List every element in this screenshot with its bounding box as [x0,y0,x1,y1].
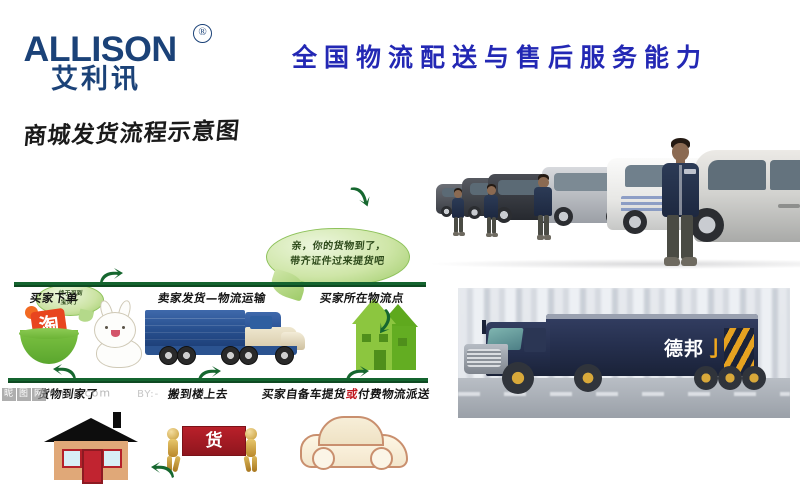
logo-chinese-name: 艾利讯 [51,66,141,93]
flow-label-part-pre: 买家自备车提货 [261,387,347,401]
house-roof [44,418,138,442]
car-cabin [318,416,384,446]
flow-arrow-icon [150,460,176,480]
person-trousers [667,215,679,259]
watermark-tile: 昵 [2,388,16,401]
truck-wheel [239,346,258,365]
person-shoe [537,235,544,240]
carrier-body [168,439,178,457]
stock-image-watermark: 昵图网 nipic.comBY:- [2,386,232,406]
person-jacket [484,195,498,218]
cargo-banner: 货 [182,426,246,456]
carrier-person-right [240,428,262,472]
vehicle-door-handle [778,204,800,208]
person-jacket [534,187,552,216]
car-icon [300,416,404,472]
bunny-eye-right [122,326,125,329]
logistics-point-speech-bubble: 亲，你的货物到了， 带齐证件过来提货吧 [266,228,410,286]
person-trousers [681,215,693,259]
speech-bubble-line-2: 带齐证件过来提货吧 [273,254,401,269]
vehicle-wheel [623,210,647,234]
person-head [454,190,462,198]
truck-wheel [742,366,766,390]
jacket-chest-logo [684,169,696,174]
deppon-swoosh-icon: 亅 [705,335,727,363]
diagram-title: 商城发货流程示意图 [22,111,242,151]
vehicle-window [770,160,800,190]
shopping-basket-icon: 淘 [20,312,78,364]
watermark-by: BY:- [137,389,159,400]
deppon-brand-logo: 德邦亅 [664,334,746,362]
truck-wheel [275,346,294,365]
carrier-leg [252,456,257,472]
flow-arrow-icon [344,364,370,384]
flow-arrow-icon [98,266,124,286]
carrier-leg [243,456,251,473]
flow-label-self-pickup-or-delivery: 买家自备车提货或付费物流派送 [261,386,431,402]
truck-trailer [145,310,245,348]
slide-root: ALLISON ® 艾利讯 全国物流配送与售后服务能力 商城发货流程示意图 亲，… [0,0,800,450]
person-trousers [544,215,549,236]
person-trousers [454,217,458,233]
truck-wheel [177,346,196,365]
speech-bubble-line-1: 亲，你的货物到了， [275,239,403,254]
logo-wordmark: ALLISON [23,32,176,67]
semi-truck-icon [145,310,305,372]
truck-window [250,316,272,329]
house-door [82,449,103,484]
person-shoe [459,232,465,236]
truck-wheel [159,346,178,365]
person-trousers [492,217,496,234]
truck-mirror [482,320,486,334]
staff-person [450,188,466,236]
person-trousers [538,215,543,236]
deppon-brand-text: 德邦 [664,338,704,360]
watermark-tile: 网 [32,388,46,401]
bunny-eye-left [105,326,108,329]
flow-rail-row-1 [14,282,426,285]
deppon-logistics-truck-photo: 德邦亅 [458,288,790,418]
house-window-left [62,449,82,468]
company-logo: ALLISON ® 艾利讯 [25,16,215,88]
page-title: 全国物流配送与售后服务能力 [240,38,760,74]
vehicle-window [708,160,766,190]
flow-label-seller-ships: 卖家发货—物流运输 [157,290,267,306]
person-trousers [459,217,463,233]
staff-person [482,184,500,238]
fleet-vehicle-near-sedan [694,150,800,242]
flow-arrow-icon [347,181,374,212]
staff-person [532,174,554,240]
truck-wheel [221,346,240,365]
registered-trademark-icon: ® [193,24,212,43]
watermark-tile: 图 [17,388,31,401]
flow-label-part-post: 付费物流派送 [357,387,431,401]
carrier-body [246,439,256,457]
flow-arrow-icon [196,364,222,384]
house-icon [48,418,134,480]
speech-bubble-tail [268,268,308,301]
basket-rim [19,328,79,339]
vehicle-wheel [554,207,573,226]
car-wheel [312,447,335,470]
person-shoe [544,235,551,240]
person-shoe [492,233,498,237]
bunny-mascot-icon [86,308,148,370]
service-vehicle-fleet-photo [432,112,800,277]
fleet-ground-shadow [432,259,800,269]
flow-label-buyer-orders: 买家下单 [29,290,79,306]
person-head [487,186,496,195]
vehicle-wheel [468,206,481,219]
truck-wheel [574,364,602,392]
green-house-window [398,338,407,346]
person-shoe [664,257,680,266]
person-shoe [681,257,697,266]
truck-cab-door [524,328,546,352]
green-house-door [374,350,386,370]
staff-person-foreground [660,138,700,272]
watermark-tiles: 昵图网 [2,386,47,401]
truck-wheel [718,366,742,390]
flow-arrow-icon [52,362,78,382]
truck-grille [467,349,501,367]
person-jacket [452,198,464,218]
bunny-mouth [111,330,120,337]
jacket-zipper [679,165,682,215]
truck-wheel [502,362,534,394]
green-house-wall-right [392,326,416,370]
watermark-domain: nipic.com [49,387,111,400]
truck-front-nose [464,344,508,374]
car-wheel [370,447,393,470]
person-trousers [487,217,491,234]
trailer-roof-rail [546,314,758,319]
cargo-banner-char: 货 [183,427,245,455]
green-house-window [362,334,371,342]
shipping-flow-diagram: 商城发货流程示意图 亲，你的货物到了， 带齐证件过来提货吧 终于买到 宝贝了 淘 [0,100,440,420]
speech-bubble-text: 亲，你的货物到了， 带齐证件过来提货吧 [273,239,402,269]
truck-wheel [694,366,718,390]
flow-label-logistics-point: 买家所在物流点 [319,290,405,306]
house-window-right [102,449,122,468]
